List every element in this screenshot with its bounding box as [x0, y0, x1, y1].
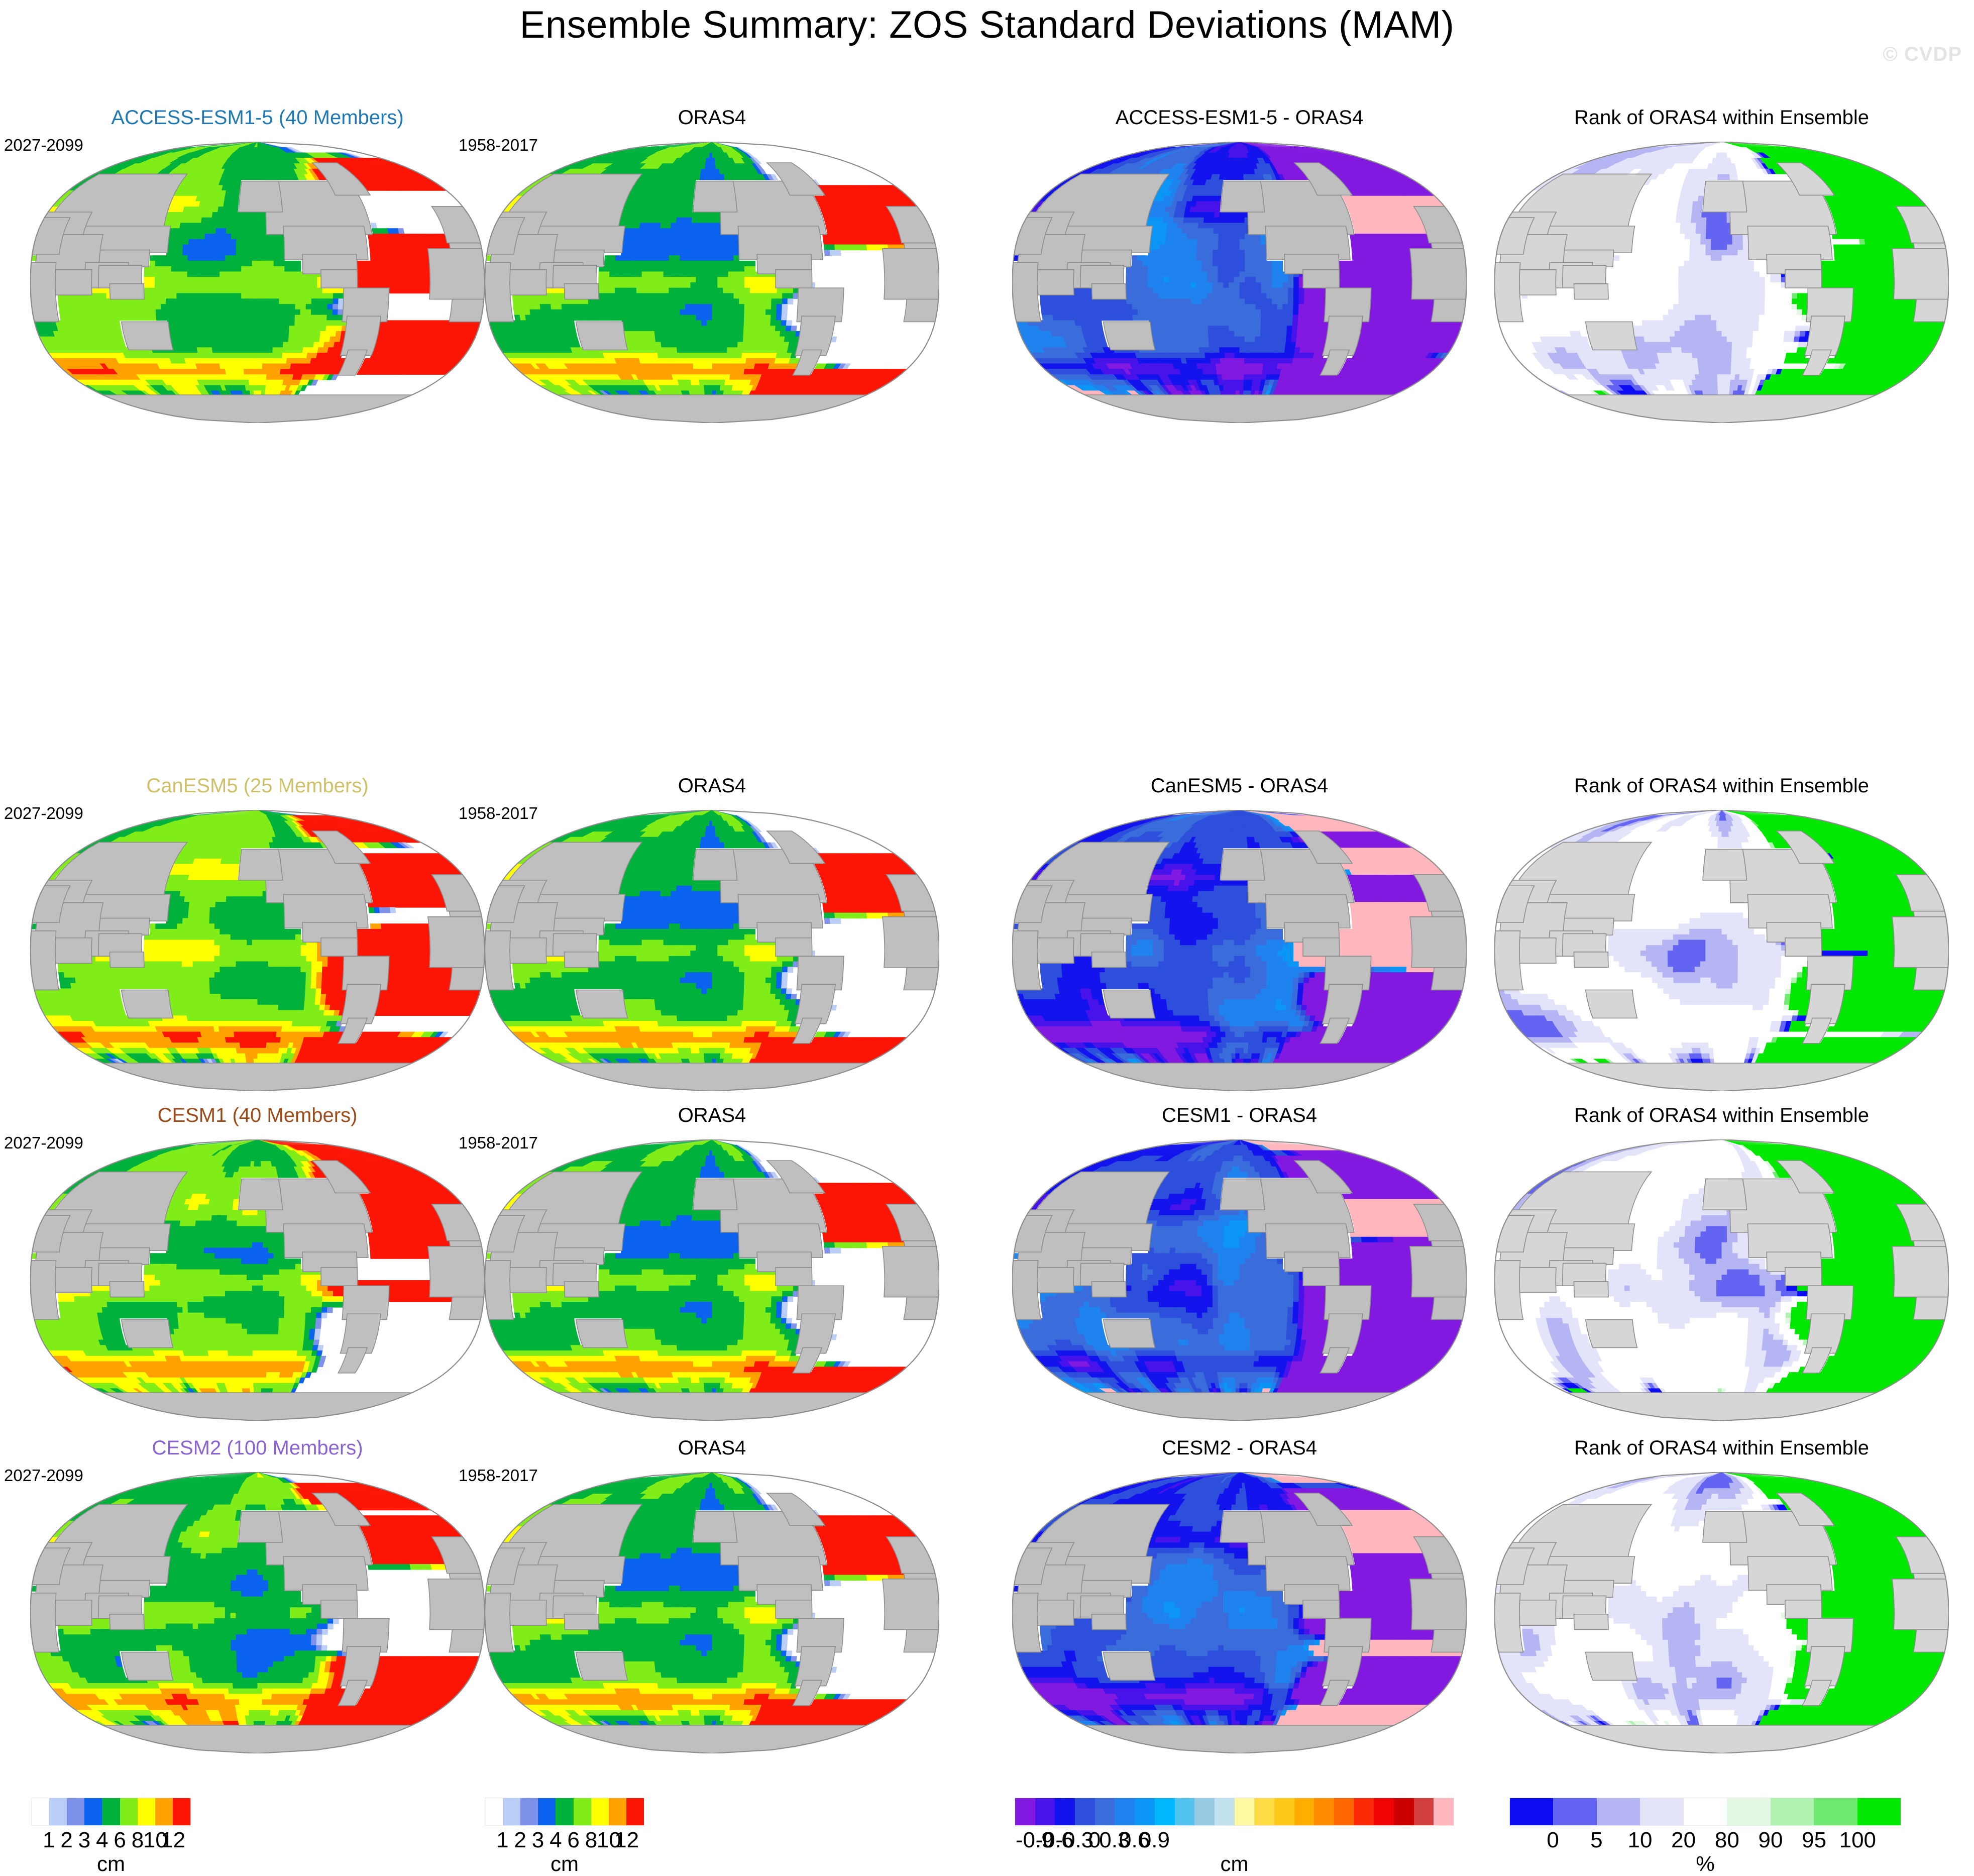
- map-panel-r4-c1: CESM2 (100 Members)2027-2099: [30, 1437, 485, 1753]
- colorbar-swatch: [556, 1798, 573, 1825]
- colorbar-tick-label: 3: [532, 1828, 544, 1853]
- map-panel-r3-c1: CESM1 (40 Members)2027-2099: [30, 1104, 485, 1421]
- colorbar-swatch: [1354, 1798, 1374, 1825]
- map-canvas: [1494, 810, 1949, 1091]
- panel-title: ACCESS-ESM1-5 - ORAS4: [1012, 107, 1467, 129]
- map-canvas: [485, 1472, 939, 1753]
- colorbar-swatch: [1015, 1798, 1035, 1825]
- panel-title: ORAS4: [485, 775, 939, 797]
- colorbar-ticks: 051020809095100: [1509, 1828, 1901, 1855]
- colorbar-tick-label: 6: [567, 1828, 579, 1853]
- colorbar-swatch: [1857, 1798, 1901, 1825]
- colorbar-swatch: [1374, 1798, 1394, 1825]
- panel-title: Rank of ORAS4 within Ensemble: [1494, 1104, 1949, 1127]
- colorbar-ticks: 1234681012: [31, 1828, 191, 1855]
- colorbar-swatch: [1314, 1798, 1334, 1825]
- map-panel-r2-c3: CanESM5 - ORAS4: [1012, 775, 1467, 1091]
- colorbar-swatch: [1434, 1798, 1454, 1825]
- panel-title: CanESM5 - ORAS4: [1012, 775, 1467, 797]
- map-panel-r4-c2: ORAS41958-2017: [485, 1437, 939, 1753]
- colorbar-swatch: [1294, 1798, 1314, 1825]
- colorbar-swatch: [1155, 1798, 1175, 1825]
- panel-title: ORAS4: [485, 1104, 939, 1127]
- map-panel-r1-c3: ACCESS-ESM1-5 - ORAS4: [1012, 107, 1467, 423]
- colorbar-tick-label: 2: [514, 1828, 526, 1853]
- cvdp-watermark: © CVDP: [1883, 43, 1962, 66]
- panel-title: CESM1 - ORAS4: [1012, 1104, 1467, 1127]
- colorbar-swatch: [626, 1798, 644, 1825]
- map-panel-r2-c1: CanESM5 (25 Members)2027-2099: [30, 775, 485, 1091]
- colorbar-swatch: [155, 1798, 173, 1825]
- colorbar-swatch: [538, 1798, 556, 1825]
- colorbar-swatch: [503, 1798, 520, 1825]
- colorbar-tick-label: 3: [78, 1828, 90, 1853]
- panel-title: CESM1 (40 Members): [30, 1104, 485, 1127]
- map-panel-r1-c1: ACCESS-ESM1-5 (40 Members)2027-2099: [30, 107, 485, 423]
- colorbar-tick-label: 90: [1759, 1828, 1783, 1853]
- colorbar-swatch: [138, 1798, 155, 1825]
- colorbar-tick-label: 6: [114, 1828, 126, 1853]
- colorbar-tick-label: 20: [1671, 1828, 1696, 1853]
- colorbar-strip: [1509, 1798, 1901, 1826]
- colorbar-tick-label: 12: [614, 1828, 639, 1853]
- colorbar-swatch: [1510, 1798, 1553, 1825]
- colorbar-tick-label: 1: [43, 1828, 55, 1853]
- colorbar-tick-label: 0: [1547, 1828, 1559, 1853]
- colorbar-tick-label: 1: [496, 1828, 508, 1853]
- colorbar-tick-label: 8: [585, 1828, 597, 1853]
- map-canvas: [30, 142, 485, 423]
- colorbar-strip: [485, 1798, 644, 1826]
- colorbar-strip: [31, 1798, 191, 1826]
- colorbar-swatch: [1055, 1798, 1075, 1825]
- map-canvas: [1494, 1139, 1949, 1421]
- map-panel-r1-c4: Rank of ORAS4 within Ensemble: [1494, 107, 1949, 423]
- colorbar-tick-label: 100: [1839, 1828, 1876, 1853]
- colorbar-tick-label: 4: [550, 1828, 562, 1853]
- colorbar-swatch: [1115, 1798, 1135, 1825]
- colorbar-swatch: [1135, 1798, 1155, 1825]
- colorbar-tick-label: 2: [60, 1828, 72, 1853]
- colorbar-swatch: [1254, 1798, 1274, 1825]
- map-canvas: [1012, 1139, 1467, 1421]
- map-canvas: [30, 810, 485, 1091]
- panel-title: Rank of ORAS4 within Ensemble: [1494, 1437, 1949, 1460]
- colorbar-swatch: [1727, 1798, 1770, 1825]
- colorbar-swatch: [1194, 1798, 1215, 1825]
- colorbar-tick-label: 0.9: [1139, 1828, 1170, 1853]
- colorbar-tick-label: 10: [1628, 1828, 1653, 1853]
- map-canvas: [1494, 1472, 1949, 1753]
- colorbar-swatch: [102, 1798, 120, 1825]
- panel-title: ORAS4: [485, 1437, 939, 1460]
- colorbar-swatch: [520, 1798, 538, 1825]
- map-panel-r3-c2: ORAS41958-2017: [485, 1104, 939, 1421]
- map-panel-r2-c2: ORAS41958-2017: [485, 775, 939, 1091]
- figure-title: Ensemble Summary: ZOS Standard Deviation…: [0, 3, 1974, 47]
- map-canvas: [1012, 142, 1467, 423]
- colorbar-swatch: [84, 1798, 102, 1825]
- map-panel-r4-c3: CESM2 - ORAS4: [1012, 1437, 1467, 1753]
- colorbar-swatch: [1771, 1798, 1814, 1825]
- map-canvas: [1012, 810, 1467, 1091]
- colorbar-swatch: [485, 1798, 503, 1825]
- colorbar-swatch: [1684, 1798, 1727, 1825]
- colorbar-swatch: [574, 1798, 591, 1825]
- colorbar-swatch: [1553, 1798, 1596, 1825]
- panel-title: CESM2 - ORAS4: [1012, 1437, 1467, 1460]
- map-panel-r1-c2: ORAS41958-2017: [485, 107, 939, 423]
- colorbar-swatch: [1334, 1798, 1354, 1825]
- map-canvas: [30, 1472, 485, 1753]
- map-canvas: [485, 810, 939, 1091]
- colorbar-swatch: [1394, 1798, 1414, 1825]
- colorbar-swatch: [1640, 1798, 1683, 1825]
- map-canvas: [485, 142, 939, 423]
- colorbar-swatch: [1414, 1798, 1434, 1825]
- colorbar-tick-label: 4: [96, 1828, 108, 1853]
- colorbar-swatch: [32, 1798, 49, 1825]
- panel-title: ORAS4: [485, 107, 939, 129]
- colorbar-tick-label: 12: [161, 1828, 185, 1853]
- colorbar-swatch: [1274, 1798, 1294, 1825]
- colorbar-strip: [1015, 1798, 1454, 1826]
- panel-title: Rank of ORAS4 within Ensemble: [1494, 107, 1949, 129]
- colorbar-swatch: [1597, 1798, 1640, 1825]
- map-canvas: [30, 1139, 485, 1421]
- panel-title: ACCESS-ESM1-5 (40 Members): [30, 107, 485, 129]
- map-panel-r2-c4: Rank of ORAS4 within Ensemble: [1494, 775, 1949, 1091]
- panel-title: Rank of ORAS4 within Ensemble: [1494, 775, 1949, 797]
- colorbar-tick-label: 5: [1590, 1828, 1602, 1853]
- map-canvas: [1012, 1472, 1467, 1753]
- colorbar-swatch: [1035, 1798, 1055, 1825]
- colorbar-tick-label: 8: [132, 1828, 144, 1853]
- colorbar-tick-label: 95: [1802, 1828, 1826, 1853]
- colorbar-swatch: [1235, 1798, 1255, 1825]
- map-canvas: [1494, 142, 1949, 423]
- panel-title: CESM2 (100 Members): [30, 1437, 485, 1460]
- panel-title: CanESM5 (25 Members): [30, 775, 485, 797]
- colorbar-swatch: [49, 1798, 67, 1825]
- colorbar-ticks: -0.9-0.6-0.300.30.60.9: [1015, 1828, 1454, 1855]
- colorbar-swatch: [1075, 1798, 1095, 1825]
- colorbar-swatch: [67, 1798, 84, 1825]
- colorbar-swatch: [1215, 1798, 1235, 1825]
- map-panel-r4-c4: Rank of ORAS4 within Ensemble: [1494, 1437, 1949, 1753]
- colorbar-swatch: [1095, 1798, 1115, 1825]
- map-panel-r3-c3: CESM1 - ORAS4: [1012, 1104, 1467, 1421]
- colorbar-swatch: [591, 1798, 609, 1825]
- colorbar-tick-label: 80: [1715, 1828, 1739, 1853]
- colorbar-swatch: [173, 1798, 190, 1825]
- colorbar-swatch: [1175, 1798, 1195, 1825]
- colorbar-swatch: [609, 1798, 626, 1825]
- colorbar-swatch: [120, 1798, 138, 1825]
- map-canvas: [485, 1139, 939, 1421]
- colorbar-swatch: [1814, 1798, 1857, 1825]
- map-panel-r3-c4: Rank of ORAS4 within Ensemble: [1494, 1104, 1949, 1421]
- colorbar-ticks: 1234681012: [485, 1828, 644, 1855]
